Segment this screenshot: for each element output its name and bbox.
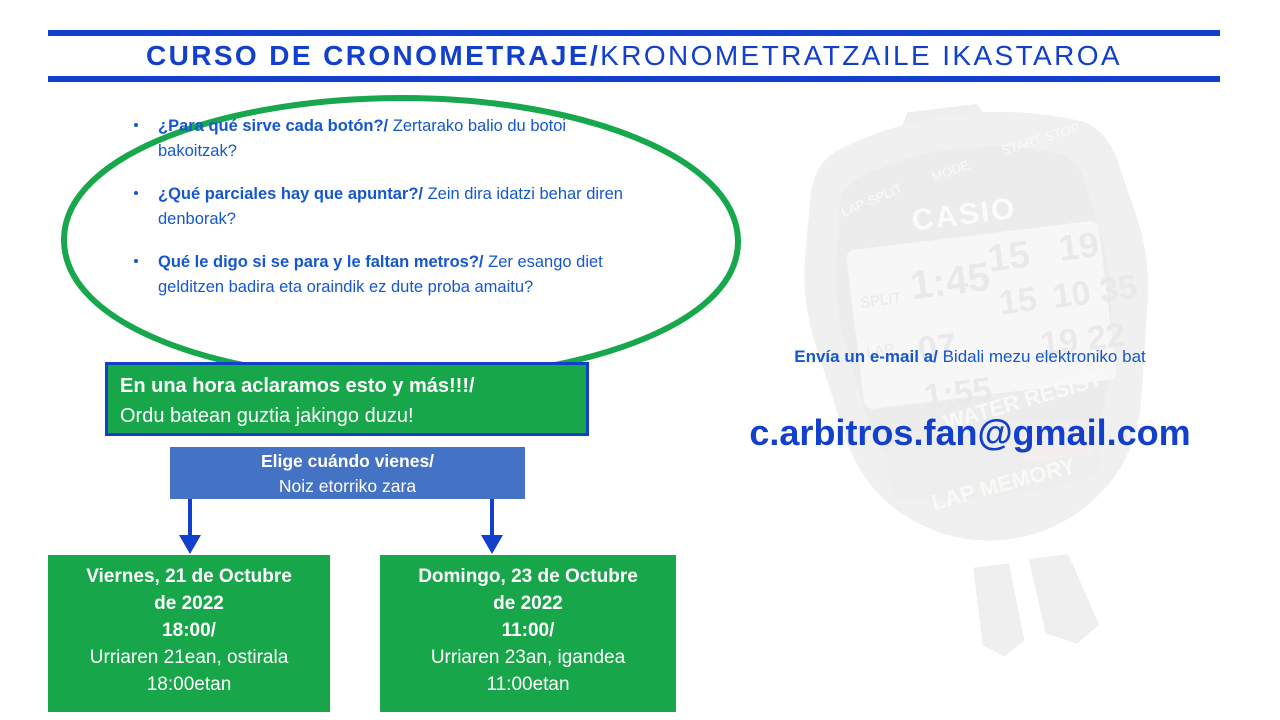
svg-text:LAP·SPLIT: LAP·SPLIT — [839, 181, 905, 220]
email-instruction-basque: Bidali mezu elektroniko bat — [938, 347, 1146, 366]
page-title-basque: KRONOMETRATZAILE IKASTAROA — [600, 40, 1122, 71]
list-item: ¿Qué parciales hay que apuntar?/ Zein di… — [126, 182, 626, 232]
date-card-spanish-year: de 2022 — [48, 590, 330, 617]
list-item-question: ¿Para qué sirve cada botón?/ — [158, 117, 388, 135]
svg-text:1:45: 1:45 — [908, 255, 993, 308]
svg-text:LAP MEMORY: LAP MEMORY — [929, 452, 1079, 515]
casio-stopwatch-watermark-image: CASIO LAP·SPLIT MODE START·STOP SPLIT LA… — [745, 95, 1225, 665]
svg-text:15: 15 — [985, 234, 1032, 281]
email-instruction: Envía un e-mail a/ Bidali mezu elektroni… — [700, 345, 1240, 369]
svg-text:SPLIT: SPLIT — [859, 290, 902, 312]
svg-text:START·STOP: START·STOP — [1000, 120, 1082, 158]
svg-text:10 35: 10 35 — [1050, 268, 1139, 316]
date-card-spanish-date: Viernes, 21 de Octubre — [48, 563, 330, 590]
promo-line-basque: Ordu batean guztia jakingo duzu! — [120, 401, 574, 431]
slide-canvas: CASIO LAP·SPLIT MODE START·STOP SPLIT LA… — [0, 0, 1280, 720]
date-card-basque-time: 18:00etan — [48, 671, 330, 698]
email-instruction-spanish: Envía un e-mail a/ — [794, 347, 938, 366]
list-item-question: Qué le digo si se para y le faltan metro… — [158, 253, 484, 271]
title-rule-top — [48, 30, 1220, 36]
date-card-friday: Viernes, 21 de Octubre de 2022 18:00/ Ur… — [48, 555, 330, 712]
svg-text:15: 15 — [997, 280, 1039, 322]
date-card-sunday: Domingo, 23 de Octubre de 2022 11:00/ Ur… — [380, 555, 676, 712]
date-card-spanish-date: Domingo, 23 de Octubre — [380, 563, 676, 590]
date-card-spanish-time: 18:00/ — [48, 617, 330, 644]
svg-text:CASIO: CASIO — [910, 192, 1018, 238]
arrow-down-to-sunday-icon — [478, 499, 506, 555]
choose-line-spanish: Elige cuándo vienes/ — [170, 449, 525, 474]
question-list: ¿Para qué sirve cada botón?/ Zertarako b… — [126, 114, 626, 318]
page-title: CURSO DE CRONOMETRAJE/KRONOMETRATZAILE I… — [48, 38, 1220, 74]
date-card-basque-time: 11:00etan — [380, 671, 676, 698]
choose-session-box: Elige cuándo vienes/ Noiz etorriko zara — [170, 447, 525, 499]
svg-text:19: 19 — [1056, 223, 1101, 269]
bullet-dot-icon — [134, 123, 138, 127]
arrow-down-to-friday-icon — [176, 499, 204, 555]
date-card-spanish-year: de 2022 — [380, 590, 676, 617]
list-item: Qué le digo si se para y le faltan metro… — [126, 250, 626, 300]
date-card-basque-date: Urriaren 21ean, ostirala — [48, 644, 330, 671]
list-item: ¿Para qué sirve cada botón?/ Zertarako b… — [126, 114, 626, 164]
bullet-dot-icon — [134, 191, 138, 195]
title-rule-bottom — [48, 76, 1220, 82]
list-item-question: ¿Qué parciales hay que apuntar?/ — [158, 185, 423, 203]
date-card-basque-date: Urriaren 23an, igandea — [380, 644, 676, 671]
date-card-spanish-time: 11:00/ — [380, 617, 676, 644]
email-address[interactable]: c.arbitros.fan@gmail.com — [690, 410, 1250, 456]
bullet-dot-icon — [134, 259, 138, 263]
svg-text:MODE: MODE — [930, 157, 972, 185]
choose-line-basque: Noiz etorriko zara — [170, 474, 525, 499]
page-title-spanish: CURSO DE CRONOMETRAJE/ — [146, 40, 600, 71]
promo-callout-box: En una hora aclaramos esto y más!!!/ Ord… — [105, 362, 589, 436]
promo-line-spanish: En una hora aclaramos esto y más!!!/ — [120, 371, 574, 401]
